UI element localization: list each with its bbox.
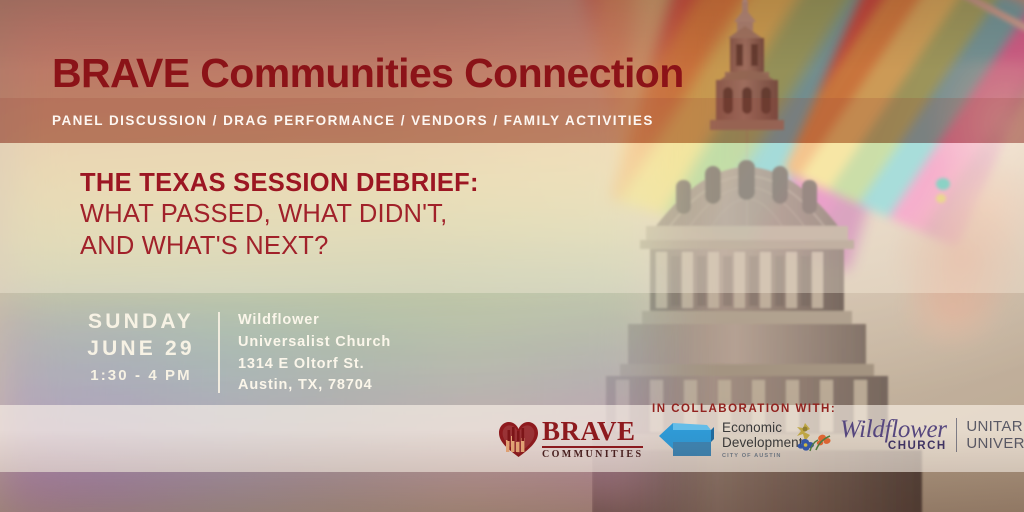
- uu-line-2: UNIVERSALIST: [966, 435, 1024, 452]
- headline-line-3: AND WHAT'S NEXT?: [80, 231, 479, 263]
- flyer-subtitle: PANEL DISCUSSION / DRAG PERFORMANCE / VE…: [52, 113, 654, 128]
- logo-brave-communities: BRAVE COMMUNITIES: [498, 418, 643, 460]
- logo-divider: [956, 418, 958, 452]
- brave-logo-name: BRAVE: [542, 418, 643, 448]
- vertical-divider: [218, 312, 220, 393]
- event-time: 1:30 - 4 PM: [78, 365, 204, 387]
- event-date: JUNE 29: [78, 335, 204, 362]
- logo-wildflower-church: Wildflower CHURCH UNITARIAN UNIVERSALIST: [796, 417, 1024, 453]
- headline-line-1: THE TEXAS SESSION DEBRIEF:: [80, 168, 479, 199]
- wildflower-script: Wildflower: [840, 417, 947, 442]
- event-date-block: SUNDAY JUNE 29 1:30 - 4 PM: [78, 308, 204, 397]
- venue-line: 1314 E Oltorf St.: [238, 354, 391, 376]
- heart-icon: [498, 420, 539, 458]
- logo-economic-development: Economic Development CITY OF AUSTIN: [657, 419, 803, 461]
- econ-line-3: CITY OF AUSTIN: [722, 453, 803, 459]
- headline-block: THE TEXAS SESSION DEBRIEF: WHAT PASSED, …: [80, 168, 479, 262]
- venue-line: Universalist Church: [238, 332, 391, 354]
- collaboration-label: IN COLLABORATION WITH:: [652, 403, 836, 415]
- event-flyer: BRAVE Communities Connection PANEL DISCU…: [0, 0, 1024, 512]
- event-venue-block: Wildflower Universalist Church 1314 E Ol…: [238, 308, 391, 397]
- flowers-icon: [796, 417, 838, 453]
- econ-line-2: Development: [722, 436, 803, 451]
- event-day: SUNDAY: [78, 308, 204, 335]
- event-details: SUNDAY JUNE 29 1:30 - 4 PM Wildflower Un…: [78, 308, 391, 397]
- econ-line-1: Economic: [722, 421, 803, 436]
- venue-line: Austin, TX, 78704: [238, 375, 391, 397]
- uu-line-1: UNITARIAN: [966, 418, 1024, 435]
- arrow-icon: [657, 419, 715, 461]
- headline-line-2: WHAT PASSED, WHAT DIDN'T,: [80, 199, 479, 231]
- brave-logo-sub: COMMUNITIES: [542, 450, 643, 460]
- venue-line: Wildflower: [238, 310, 391, 332]
- flyer-title: BRAVE Communities Connection: [52, 50, 684, 97]
